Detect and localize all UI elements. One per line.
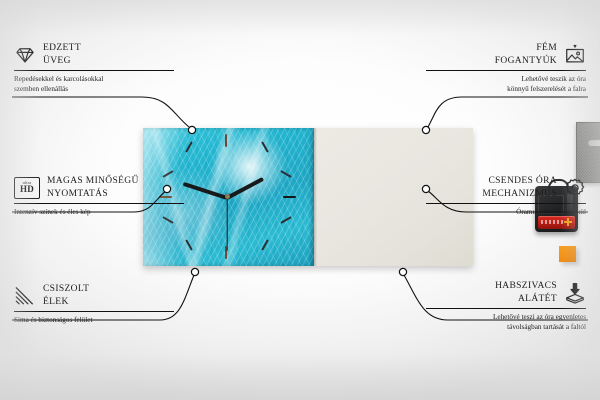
ultra-hd-icon: ultra HD xyxy=(14,177,40,199)
connector-line-right-1 xyxy=(428,97,588,127)
callout-foam-pad: HABSZIVACS ALÁTÉT Lehetővé teszi az óra … xyxy=(426,280,586,332)
clock-second-hand xyxy=(226,198,227,251)
callout-header: CSENDES ÓRA MECHANIZMUS xyxy=(426,175,586,200)
callout-subtitle: szemben ellenállás xyxy=(14,85,174,95)
beveled-edge-icon xyxy=(14,285,36,307)
callout-high-quality-print: ultra HD MAGAS MINŐSÉGŰ NYOMTATÁS Intenz… xyxy=(14,175,184,218)
metal-hanger-plate xyxy=(576,122,600,183)
callout-header: CSISZOLT ÉLEK xyxy=(14,283,174,308)
clock-tick-3 xyxy=(283,196,296,198)
callout-subtitle: Intenzív színek és éles kép xyxy=(14,208,184,218)
picture-hanger-icon xyxy=(564,44,586,66)
callout-subtitle: könnyű felszerelését a falra xyxy=(426,85,586,95)
product-image xyxy=(143,128,473,266)
clock-center-hub xyxy=(225,194,230,199)
foam-pad xyxy=(559,246,576,262)
callout-title: FÉM FOGANTYÚK xyxy=(495,42,557,67)
clock-tick-1 xyxy=(261,141,269,152)
callout-polished-edges: CSISZOLT ÉLEK Sima és biztonságos felüle… xyxy=(14,283,174,326)
callout-quiet-mechanism: CSENDES ÓRA MECHANIZMUS Óramutatók hang … xyxy=(426,175,586,218)
callout-subtitle: Lehetővé teszi az óra egyenletes xyxy=(426,313,586,323)
callout-header: HABSZIVACS ALÁTÉT xyxy=(426,280,586,305)
gear-icon xyxy=(564,177,586,199)
battery-plus-icon xyxy=(564,218,572,226)
callout-header: EDZETT ÜVEG xyxy=(14,42,174,67)
clock-minute-hand xyxy=(183,182,228,200)
callout-divider xyxy=(426,70,586,71)
diamond-icon xyxy=(14,44,36,66)
clock-tick-5 xyxy=(261,239,269,250)
foam-pad-icon xyxy=(564,282,586,304)
callout-metal-handles: FÉM FOGANTYÚK Lehetővé teszik az óra kön… xyxy=(426,42,586,94)
clock-tick-7 xyxy=(185,239,193,250)
infographic-canvas: EDZETT ÜVEG Repedésekkel és karcolásokka… xyxy=(0,0,600,400)
battery-label xyxy=(541,220,563,224)
callout-header: FÉM FOGANTYÚK xyxy=(426,42,586,67)
callout-title: CSENDES ÓRA MECHANIZMUS xyxy=(482,175,557,200)
callout-subtitle: távolságban tartását a faltól xyxy=(426,323,586,333)
clock-tick-4 xyxy=(280,216,291,224)
callout-subtitle: Repedésekkel és karcolásokkal xyxy=(14,75,174,85)
callout-title: EDZETT ÜVEG xyxy=(43,42,81,67)
callout-divider xyxy=(14,70,174,71)
callout-header: ultra HD MAGAS MINŐSÉGŰ NYOMTATÁS xyxy=(14,175,184,200)
callout-divider xyxy=(14,203,184,204)
connector-dot-left-3 xyxy=(191,268,198,275)
callout-subtitle: Sima és biztonságos felület xyxy=(14,316,174,326)
callout-divider xyxy=(14,311,174,312)
callout-subtitle: Lehetővé teszik az óra xyxy=(426,75,586,85)
callout-title: MAGAS MINŐSÉGŰ NYOMTATÁS xyxy=(47,175,139,200)
callout-title: HABSZIVACS ALÁTÉT xyxy=(495,280,557,305)
clock-tick-11 xyxy=(185,141,193,152)
clock-tick-12 xyxy=(225,134,227,147)
callout-tempered-glass: EDZETT ÜVEG Repedésekkel és karcolásokka… xyxy=(14,42,174,94)
callout-divider xyxy=(426,203,586,204)
connector-line-left-1 xyxy=(12,97,189,127)
connector-dot-right-3 xyxy=(399,268,406,275)
clock-hour-hand xyxy=(226,177,264,200)
callout-subtitle: Óramutatók hang nélkül xyxy=(426,208,586,218)
hanger-slot xyxy=(588,139,600,146)
callout-title: CSISZOLT ÉLEK xyxy=(43,283,89,308)
battery xyxy=(538,216,575,229)
callout-divider xyxy=(426,308,586,309)
clock-tick-2 xyxy=(280,170,291,178)
